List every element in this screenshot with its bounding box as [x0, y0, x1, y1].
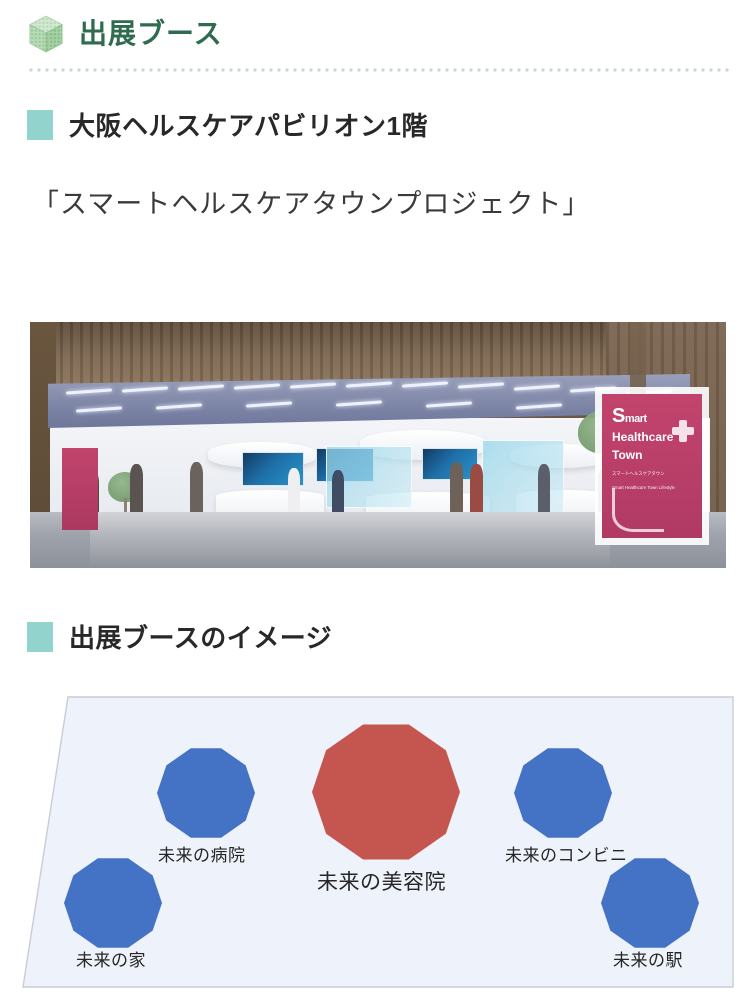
- section-heading-label-2: 出展ブースのイメージ: [69, 618, 332, 655]
- booth-layout-diagram: 未来の病院未来の美容院未来のコンビニ未来の家未来の駅: [20, 694, 736, 990]
- photo-visitor-8: [538, 464, 550, 516]
- booth-node-convenience-store[interactable]: [514, 744, 612, 842]
- heart-cross-mark-icon: [612, 488, 664, 532]
- booth-label-station: 未来の駅: [613, 946, 683, 971]
- booth-node-home[interactable]: [64, 854, 162, 952]
- medical-cross-icon: [672, 420, 694, 442]
- booth-label-beauty-salon: 未来の美容院: [317, 866, 446, 896]
- photo-visitor-3: [190, 462, 203, 518]
- green-cube-icon: [27, 14, 65, 54]
- photo-floor-reflection: [90, 512, 610, 568]
- section-heading-label: 大阪ヘルスケアパビリオン1階: [69, 106, 428, 143]
- dotted-divider: [27, 68, 729, 72]
- booth-node-beauty-salon[interactable]: [312, 718, 460, 866]
- photo-glass-panel-2: [482, 440, 564, 516]
- page-title: 出展ブース: [79, 20, 223, 48]
- photo-smart-healthcare-banner: Smart Healthcare Town スマートヘルスケアタウン Smart…: [602, 394, 702, 538]
- booth-label-hospital: 未来の病院: [158, 841, 246, 866]
- project-subtitle: 「スマートヘルスケアタウンプロジェクト」: [32, 182, 722, 227]
- booth-node-hospital[interactable]: [157, 744, 255, 842]
- photo-side-poster: [62, 448, 98, 530]
- photo-visitor-7: [470, 464, 483, 518]
- banner-line-3: Town: [612, 448, 692, 462]
- page-header: 出展ブース: [27, 14, 223, 54]
- booth-photo: Smart Healthcare Town スマートヘルスケアタウン Smart…: [30, 322, 726, 568]
- photo-visitor-6: [450, 462, 463, 516]
- booth-page: 出展ブース 大阪ヘルスケアパビリオン1階 「スマートヘルスケアタウンプロジェクト…: [0, 0, 755, 1000]
- section-heading-booth-image: 出展ブースのイメージ: [27, 618, 332, 655]
- teal-square-marker-2: [27, 622, 53, 652]
- booth-node-station[interactable]: [601, 854, 699, 952]
- teal-square-marker: [27, 110, 53, 140]
- section-heading-floor: 大阪ヘルスケアパビリオン1階: [27, 106, 428, 143]
- booth-label-home: 未来の家: [76, 946, 146, 971]
- banner-fine-print-1: スマートヘルスケアタウン: [612, 471, 692, 478]
- booth-label-convenience-store: 未来のコンビニ: [505, 841, 628, 866]
